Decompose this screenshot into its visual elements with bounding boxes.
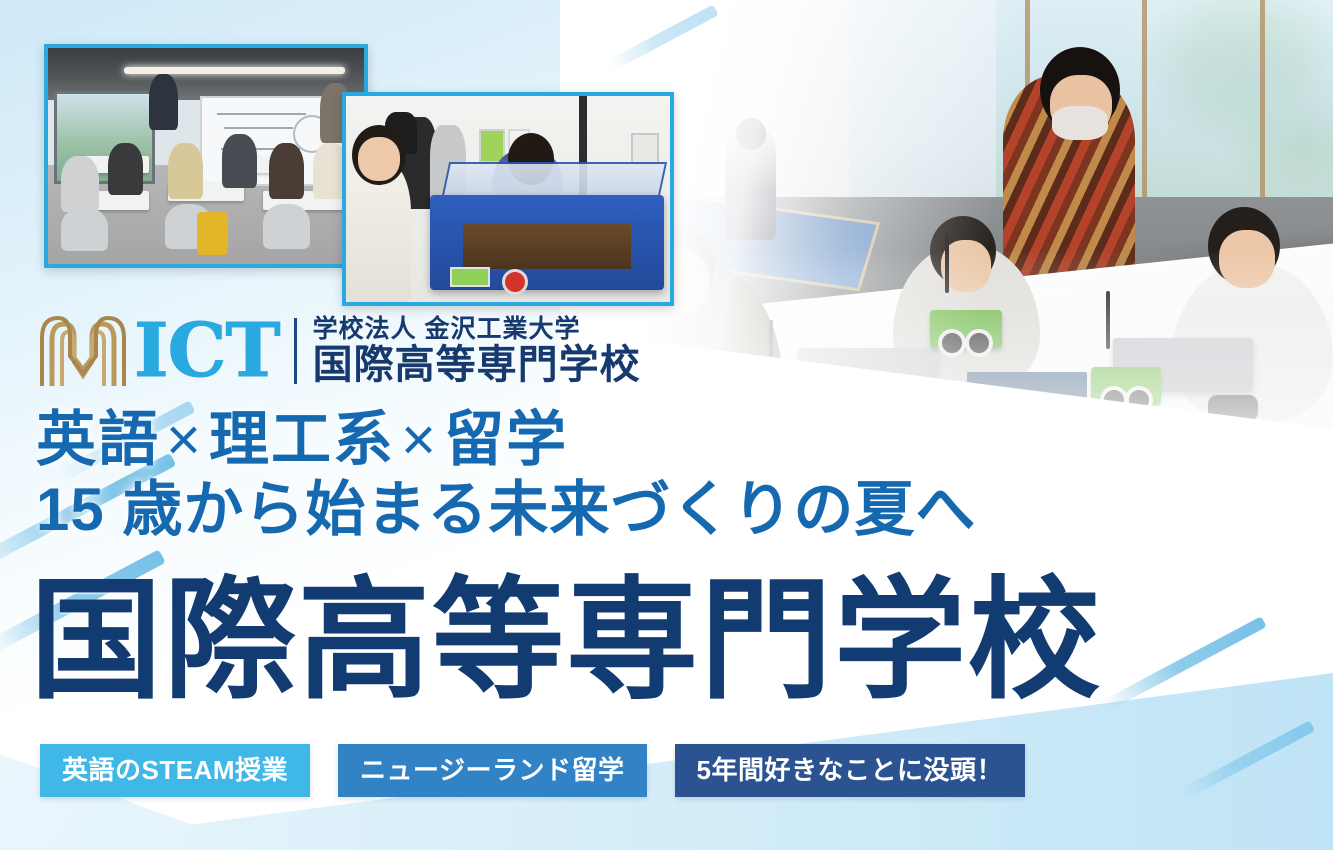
laser-cutter-display [450, 267, 490, 287]
teacher-standing [149, 74, 177, 130]
feature-pill-new-zealand[interactable]: ニュージーランド留学 [338, 744, 646, 797]
chevron-mark-icon [40, 314, 126, 388]
laser-cutter-bed [463, 224, 631, 269]
classroom-student [108, 143, 143, 195]
classroom-student [269, 143, 304, 199]
headline-separator-2: × [395, 406, 444, 473]
headline-line-2: 15 歳から始まる未来づくりの夏へ [36, 478, 1126, 542]
logo-divider [294, 318, 297, 384]
headline-subject-3: 留学 [444, 406, 568, 473]
feature-pill-steam[interactable]: 英語のSTEAM授業 [40, 744, 310, 797]
logo-org-line-1: 学校法人 金沢工業大学 [313, 315, 641, 343]
school-logo: ICT 学校法人 金沢工業大学 国際高等専門学校 [40, 306, 641, 396]
headline-separator-1: × [160, 406, 209, 473]
headline-line-1: 英語×理工系×留学 [36, 408, 1126, 472]
whiteboard-scribble [224, 127, 294, 129]
logo-acronym: ICT [134, 314, 280, 388]
classroom-chair [263, 204, 310, 249]
student-observing-face [358, 137, 400, 181]
headline-subject-2: 理工系 [209, 406, 395, 473]
classroom-student [168, 143, 203, 199]
emergency-stop-button [502, 269, 528, 295]
feature-pill-list: 英語のSTEAM授業 ニュージーランド留学 5年間好きなことに没頭！ [40, 744, 1025, 797]
school-promo-banner: ICT 学校法人 金沢工業大学 国際高等専門学校 英語×理工系×留学 15 歳か… [0, 0, 1333, 850]
classroom-student [61, 156, 99, 212]
ceiling-light [124, 67, 345, 74]
wall-panel [631, 133, 659, 165]
classroom-chair [61, 208, 108, 251]
logo-org-text: 学校法人 金沢工業大学 国際高等専門学校 [313, 315, 641, 387]
inset-photo-classroom [44, 44, 368, 268]
feature-pill-five-years[interactable]: 5年間好きなことに没頭！ [675, 744, 1025, 797]
inset-photo-laser-cutter [342, 92, 674, 306]
whiteboard-scribble [217, 113, 305, 115]
yellow-backpack [197, 212, 229, 255]
page-title: 国際高等専門学校 [30, 575, 1102, 707]
logo-org-line-2: 国際高等専門学校 [313, 343, 641, 387]
headline: 英語×理工系×留学 15 歳から始まる未来づくりの夏へ [36, 408, 1126, 541]
classroom-student [222, 134, 257, 188]
headline-subject-1: 英語 [36, 406, 160, 473]
